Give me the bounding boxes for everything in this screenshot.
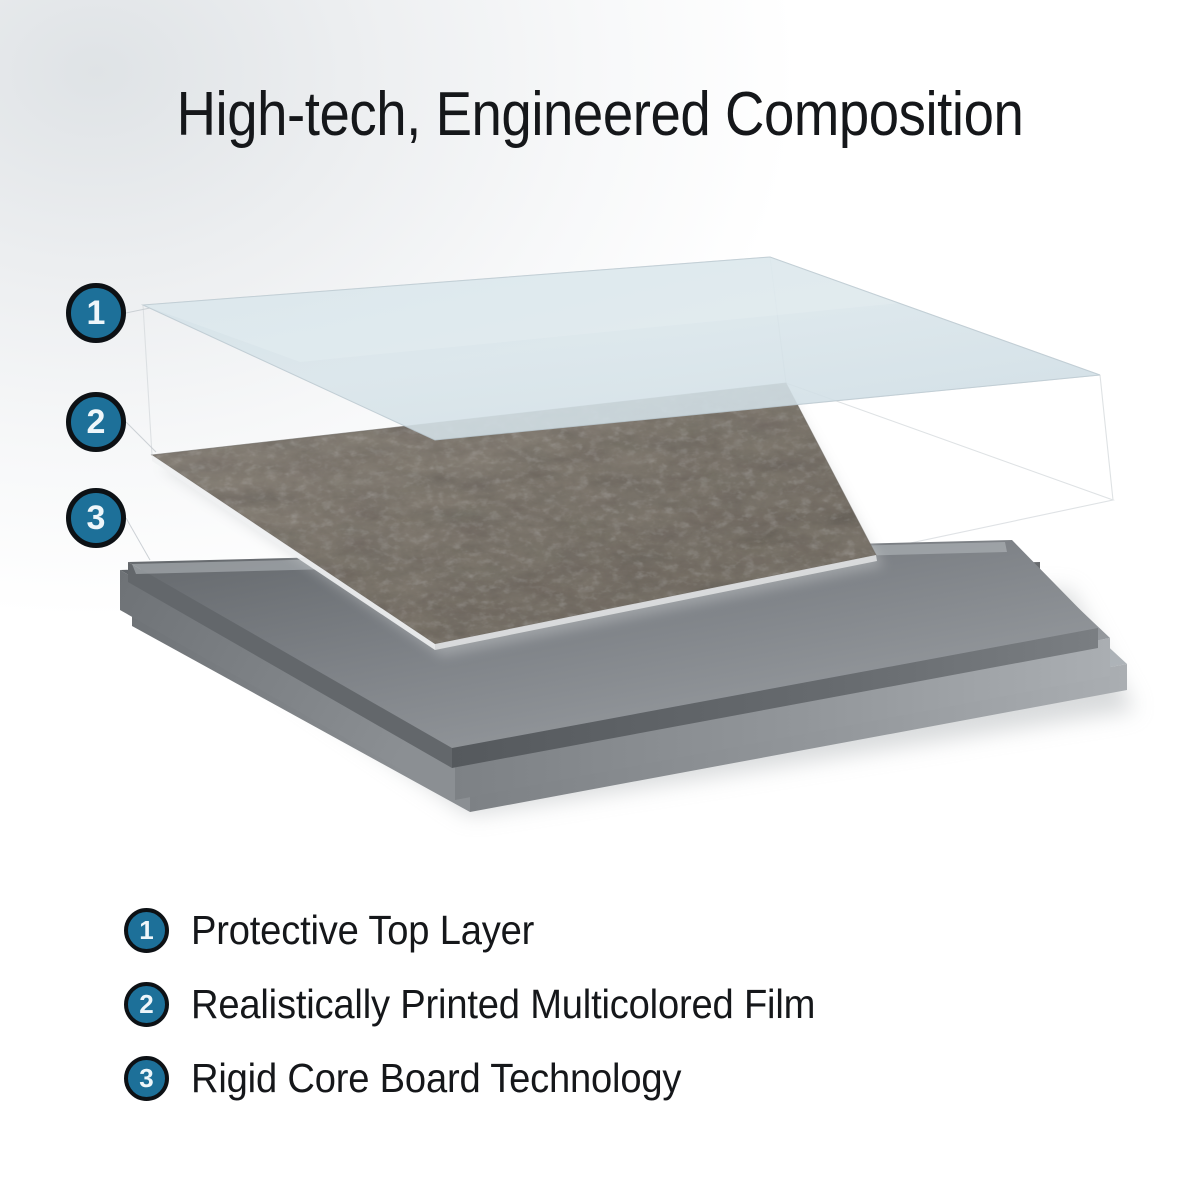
exploded-layer-diagram: 1 2 3 bbox=[0, 0, 1200, 900]
legend-label-1: Protective Top Layer bbox=[191, 907, 534, 954]
layer-legend: 1 Protective Top Layer 2 Realistically P… bbox=[124, 893, 1124, 1115]
legend-badge-1: 1 bbox=[124, 908, 169, 953]
legend-label-3: Rigid Core Board Technology bbox=[191, 1055, 681, 1102]
legend-label-2: Realistically Printed Multicolored Film bbox=[191, 981, 815, 1028]
legend-item-2[interactable]: 2 Realistically Printed Multicolored Fil… bbox=[124, 967, 1124, 1041]
legend-item-3[interactable]: 3 Rigid Core Board Technology bbox=[124, 1041, 1124, 1115]
callout-badge-2[interactable]: 2 bbox=[66, 392, 126, 452]
callout-badge-3[interactable]: 3 bbox=[66, 488, 126, 548]
callout-leader-lines bbox=[126, 308, 156, 560]
legend-badge-2: 2 bbox=[124, 982, 169, 1027]
callout-badge-1[interactable]: 1 bbox=[66, 283, 126, 343]
layer-stack-illustration bbox=[0, 0, 1200, 900]
legend-badge-3: 3 bbox=[124, 1056, 169, 1101]
composition-infographic: High-tech, Engineered Composition bbox=[0, 0, 1200, 1200]
top-protective-layer bbox=[143, 257, 1100, 440]
legend-item-1[interactable]: 1 Protective Top Layer bbox=[124, 893, 1124, 967]
